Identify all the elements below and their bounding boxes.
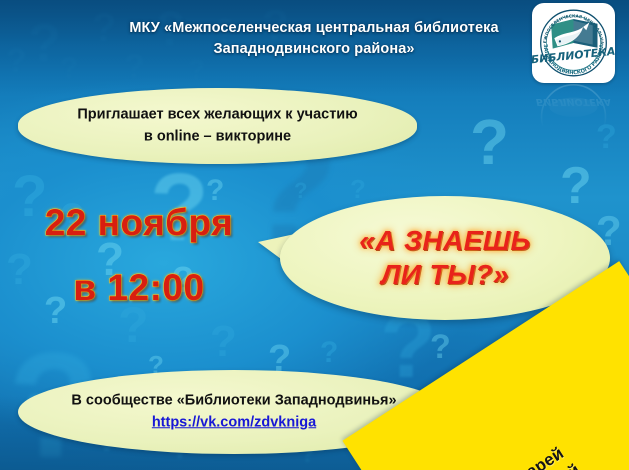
quiz-title-line2: ЛИ ТЫ?» [280, 258, 610, 292]
invite-bubble: Приглашает всех желающих к участию в onl… [18, 88, 417, 164]
library-emblem-reflection-icon: БИБЛИОТЕКА [532, 80, 615, 128]
invite-line2: в online – викторине [18, 126, 417, 148]
invite-line1: Приглашает всех желающих к участию [18, 104, 417, 126]
event-date: 22 ноября [14, 202, 264, 243]
library-emblem-reflection: БИБЛИОТЕКА [532, 80, 615, 128]
svg-text:БИБЛИОТЕКА: БИБЛИОТЕКА [536, 96, 611, 107]
invite-bubble-text: Приглашает всех желающих к участию в onl… [18, 104, 417, 148]
poster-canvas: ? ? ? ? ? ? ? ? ? ? ? ? ? ? ? ? ? ? ? ? … [0, 0, 629, 470]
library-emblem-icon: МЕЖПОСЕЛЕНЧЕСКАЯ ЦЕНТРАЛЬНАЯ ЗАПАДНОДВИН… [532, 3, 615, 83]
quiz-title-text: «А ЗНАЕШЬ ЛИ ТЫ?» [280, 224, 610, 292]
organization-title-line1: МКУ «Межпоселенческая центральная библио… [129, 20, 498, 36]
community-line1: В сообществе «Библиотеки Западнодвинья» [18, 390, 450, 412]
quiz-title-line1: «А ЗНАЕШЬ [280, 224, 610, 258]
event-date-block: 22 ноября в 12:00 [14, 202, 264, 309]
organization-title-line2: Западнодвинского района» [104, 39, 524, 60]
event-time: в 12:00 [14, 267, 264, 308]
library-emblem-logo: МЕЖПОСЕЛЕНЧЕСКАЯ ЦЕНТРАЛЬНАЯ ЗАПАДНОДВИН… [532, 3, 615, 83]
organization-title: МКУ «Межпоселенческая центральная библио… [104, 18, 524, 59]
